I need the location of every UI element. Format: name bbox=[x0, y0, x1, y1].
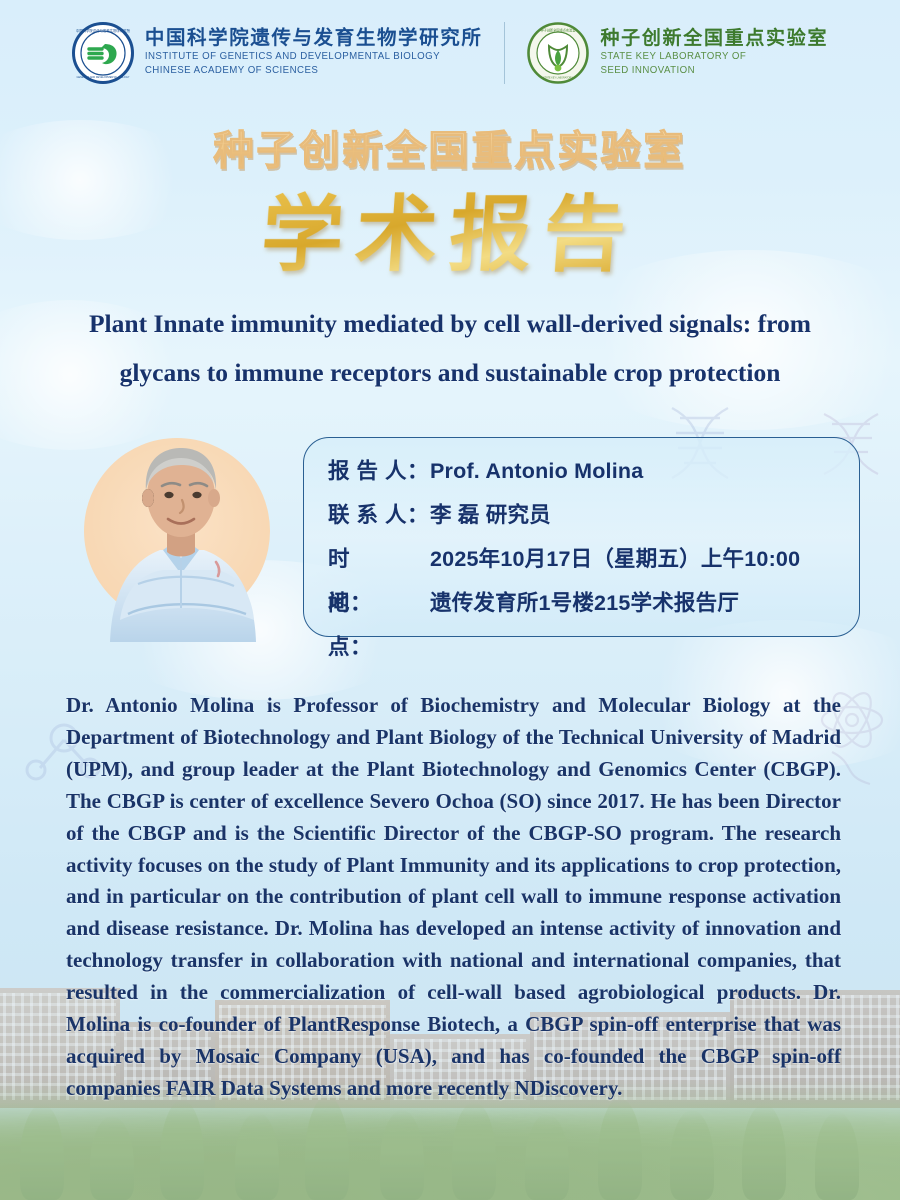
info-value-speaker: Prof. Antonio Molina bbox=[430, 449, 859, 493]
laboratory-name-en-line2: SEED INNOVATION bbox=[600, 64, 828, 78]
info-value-location: 遗传发育所1号楼215学术报告厅 bbox=[430, 581, 859, 625]
institute-logo-block: 中国科学院遗传与发育生物学研究所 GENETICS AND DEVELOPMEN… bbox=[72, 22, 483, 84]
page-title: Plant Innate immunity mediated by cell w… bbox=[42, 300, 858, 398]
info-value-contact: 李 磊 研究员 bbox=[430, 493, 859, 537]
institute-name-en-line1: INSTITUTE OF GENETICS AND DEVELOPMENTAL … bbox=[145, 50, 483, 64]
laboratory-name-en-line1: STATE KEY LABORATORY OF bbox=[600, 50, 828, 64]
svg-text:中国科学院遗传与发育生物学研究所: 中国科学院遗传与发育生物学研究所 bbox=[76, 28, 131, 33]
info-label-contact: 联 系 人： bbox=[328, 493, 430, 537]
talk-title-line1: Plant Innate immunity mediated by cell w… bbox=[42, 300, 858, 349]
speaker-biography: Dr. Antonio Molina is Professor of Bioch… bbox=[66, 690, 841, 1105]
avatar bbox=[68, 424, 294, 642]
svg-text:STATE KEY LABORATORY: STATE KEY LABORATORY bbox=[544, 77, 574, 80]
info-row-location: 地 点： 遗传发育所1号楼215学术报告厅 bbox=[304, 581, 859, 625]
seminar-details-box: 报 告 人： Prof. Antonio Molina 联 系 人： 李 磊 研… bbox=[303, 437, 860, 637]
laboratory-name-cn: 种子创新全国重点实验室 bbox=[600, 28, 828, 50]
info-row-contact: 联 系 人： 李 磊 研究员 bbox=[304, 493, 859, 537]
info-label-location: 地 点： bbox=[328, 581, 430, 669]
institute-name-en-line2: CHINESE ACADEMY OF SCIENCES bbox=[145, 64, 483, 78]
seed-innovation-emblem-icon: 种子创新全国重点实验室 STATE KEY LABORATORY bbox=[527, 22, 589, 84]
laboratory-logo-block: 种子创新全国重点实验室 STATE KEY LABORATORY 种子创新全国重… bbox=[527, 22, 828, 84]
info-value-time: 2025年10月17日（星期五）上午10:00 bbox=[430, 537, 859, 581]
talk-title-line2: glycans to immune receptors and sustaina… bbox=[42, 349, 858, 398]
svg-text:种子创新全国重点实验室: 种子创新全国重点实验室 bbox=[541, 28, 576, 33]
banner-report-title: 学术报告 bbox=[0, 168, 900, 287]
institute-name-cn: 中国科学院遗传与发育生物学研究所 bbox=[145, 28, 483, 50]
poster-header: 中国科学院遗传与发育生物学研究所 GENETICS AND DEVELOPMEN… bbox=[0, 0, 900, 110]
info-row-time: 时 间： 2025年10月17日（星期五）上午10:00 bbox=[304, 537, 859, 581]
info-row-speaker: 报 告 人： Prof. Antonio Molina bbox=[304, 449, 859, 493]
speaker-portrait bbox=[68, 424, 294, 642]
logo-divider bbox=[504, 22, 505, 84]
svg-text:GENETICS AND DEVELOPMENTAL BIO: GENETICS AND DEVELOPMENTAL BIOLOGY bbox=[76, 76, 129, 79]
seminar-poster: 中国科学院遗传与发育生物学研究所 GENETICS AND DEVELOPMEN… bbox=[0, 0, 900, 1200]
igdb-cas-emblem-icon: 中国科学院遗传与发育生物学研究所 GENETICS AND DEVELOPMEN… bbox=[72, 22, 134, 84]
info-label-speaker: 报 告 人： bbox=[328, 449, 430, 493]
